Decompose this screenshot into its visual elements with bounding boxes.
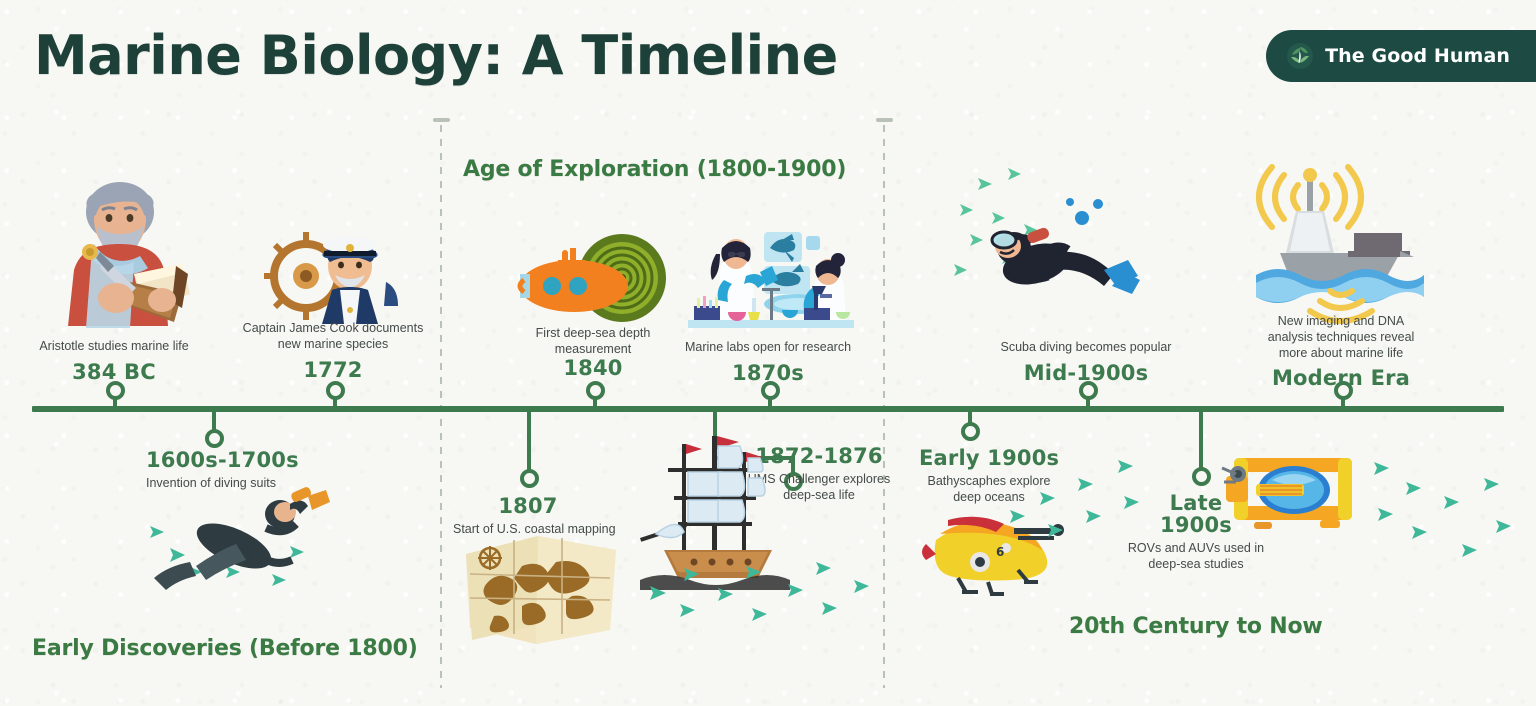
node-deep-sea-depth[interactable] — [586, 381, 605, 400]
node-coastal-mapping[interactable] — [520, 469, 539, 488]
fish-school-illustration — [640, 540, 880, 640]
section-title-twentieth-century: 20th Century to Now — [1069, 614, 1323, 639]
infographic-canvas: Marine Biology: A Timeline The Good Huma… — [0, 0, 1536, 706]
submarine-sonar-illustration — [518, 228, 668, 328]
event-year: 384 BC — [16, 360, 212, 384]
research-vessel-sonar-illustration — [1250, 155, 1430, 315]
event-description: New imaging and DNA analysis techniques … — [1245, 313, 1437, 361]
leaf-circle-logo-icon — [1286, 42, 1314, 70]
event-marine-labs: Marine labs open for research 1870s — [672, 339, 864, 385]
node-bathyscaphes[interactable] — [961, 422, 980, 441]
section-title-age-of-exploration: Age of Exploration (1800-1900) — [463, 157, 846, 182]
event-cook: Captain James Cook documents new marine … — [235, 320, 431, 382]
section-title-early-discoveries: Early Discoveries (Before 1800) — [32, 636, 418, 661]
page-title: Marine Biology: A Timeline — [34, 24, 838, 87]
aristotle-scholar-illustration — [34, 178, 226, 330]
event-modern-era: New imaging and DNA analysis techniques … — [1245, 313, 1437, 390]
event-scuba: Scuba diving becomes popular Mid-1900s — [990, 339, 1182, 385]
freediver-illustration — [140, 470, 390, 610]
event-description: Captain James Cook documents new marine … — [235, 320, 431, 352]
node-rovs-auvs[interactable] — [1192, 467, 1211, 486]
event-year: Modern Era — [1245, 366, 1437, 390]
stem-rovs-auvs — [1199, 410, 1203, 474]
event-description: First deep-sea depth measurement — [497, 325, 689, 357]
brand-badge[interactable]: The Good Human — [1266, 30, 1536, 82]
section-divider-right — [883, 118, 885, 688]
event-description: Aristotle studies marine life — [16, 338, 212, 354]
section-divider-left — [440, 118, 442, 688]
event-year: 1772 — [235, 358, 431, 382]
event-year: Mid-1900s — [990, 361, 1182, 385]
fish-school-right-illustration — [1366, 448, 1536, 578]
event-year: 1870s — [672, 361, 864, 385]
marine-laboratory-illustration — [686, 228, 856, 336]
event-year: 1807 — [453, 494, 603, 518]
old-world-map-illustration — [460, 528, 620, 648]
stem-coastal-mapping — [527, 410, 531, 476]
fish-school-center-illustration — [1000, 448, 1190, 558]
event-year: 1600s-1700s — [146, 448, 386, 472]
ship-captain-illustration — [266, 218, 406, 328]
event-description: Marine labs open for research — [672, 339, 864, 355]
event-year: 1840 — [497, 356, 689, 380]
event-year-deep-sea-depth: 1840 — [497, 356, 689, 380]
node-cook[interactable] — [326, 381, 345, 400]
orange-rov-illustration — [1216, 440, 1376, 550]
event-description: Scuba diving becomes popular — [990, 339, 1182, 355]
event-aristotle: Aristotle studies marine life 384 BC — [16, 338, 212, 384]
node-diving-suits[interactable] — [205, 429, 224, 448]
brand-name: The Good Human — [1325, 45, 1510, 67]
scuba-diver-illustration — [940, 160, 1170, 330]
